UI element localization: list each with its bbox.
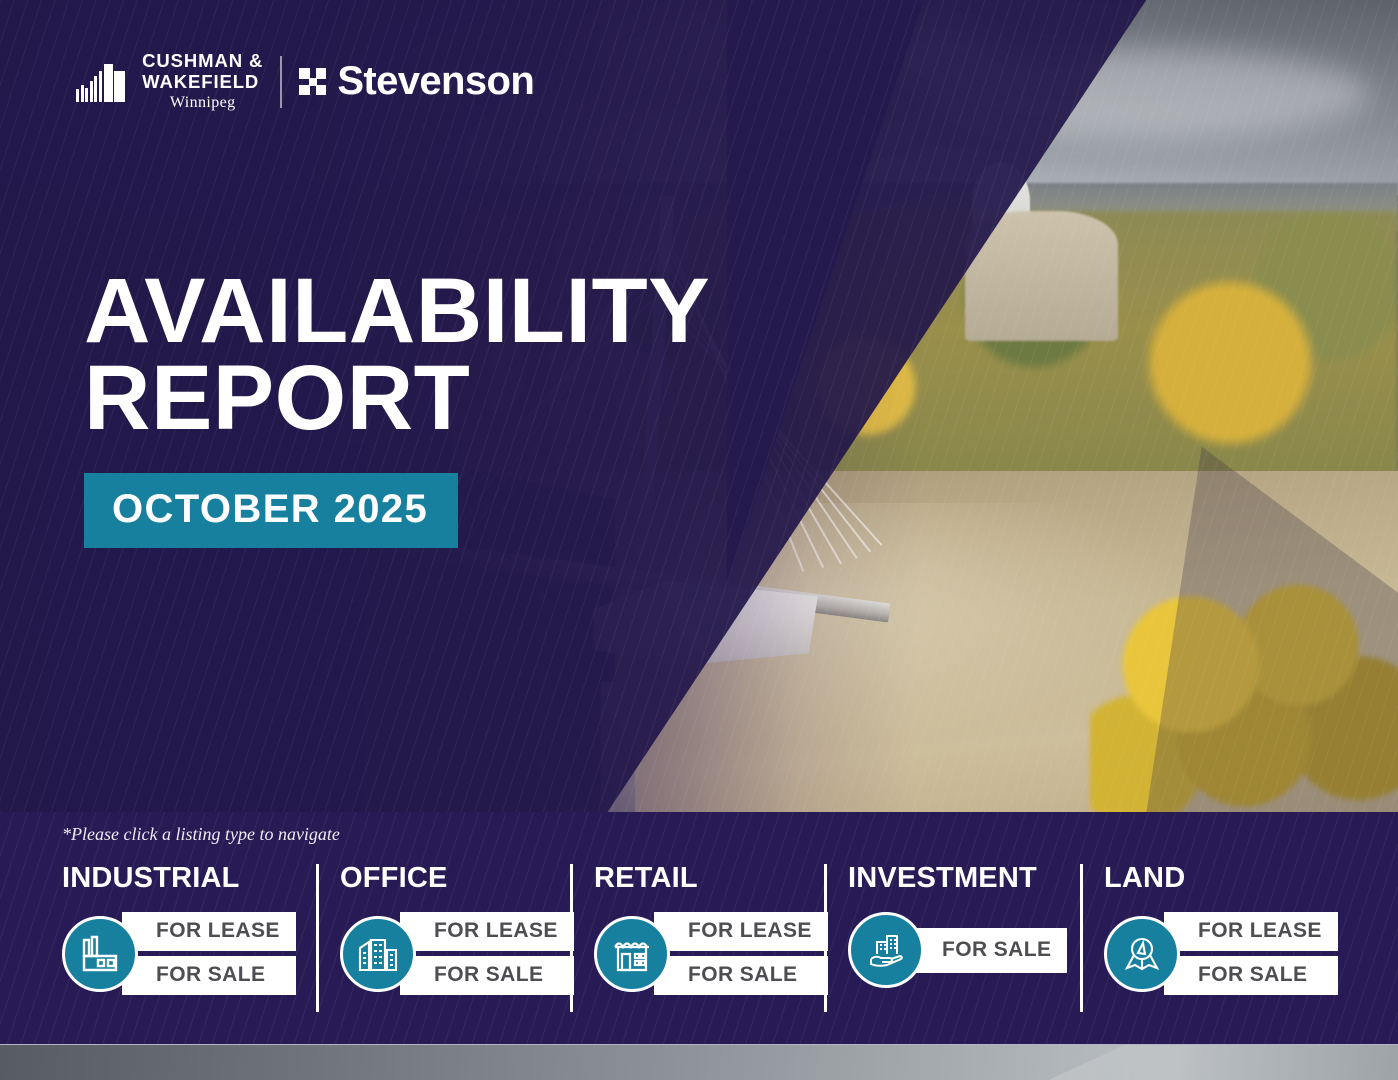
land-for-lease-button[interactable]: FOR LEASE: [1164, 912, 1338, 951]
listing-buttons-retail: FOR LEASE FOR SALE: [654, 912, 828, 995]
listing-title-investment: INVESTMENT: [848, 862, 1078, 895]
listing-buttons-land: FOR LEASE FOR SALE: [1164, 912, 1338, 995]
stevenson-wordmark: Stevenson: [337, 59, 534, 104]
listing-column-investment: INVESTMENT FOR SALE: [822, 862, 1078, 988]
industrial-for-lease-button[interactable]: FOR LEASE: [122, 912, 296, 951]
building-in-hand-icon[interactable]: [848, 912, 924, 988]
investment-for-sale-button[interactable]: FOR SALE: [908, 928, 1067, 973]
page-title-line-2: REPORT: [84, 347, 470, 449]
land-for-sale-button[interactable]: FOR SALE: [1164, 956, 1338, 995]
hero-headline: AVAILABILITY REPORT OCTOBER 2025: [84, 268, 710, 548]
map-pin-icon[interactable]: [1104, 916, 1180, 992]
listing-title-industrial: INDUSTRIAL: [62, 862, 314, 895]
listing-title-retail: RETAIL: [594, 862, 822, 895]
office-for-sale-button[interactable]: FOR SALE: [400, 956, 574, 995]
logo-divider: [280, 56, 282, 108]
office-for-lease-button[interactable]: FOR LEASE: [400, 912, 574, 951]
footer-accent-bar: [0, 1044, 1398, 1080]
nav-instruction-note: *Please click a listing type to navigate: [62, 824, 340, 845]
date-badge: OCTOBER 2025: [84, 473, 458, 548]
hero-banner: CUSHMAN & WAKEFIELD Winnipeg Stevenson A…: [0, 0, 1398, 812]
storefront-icon[interactable]: [594, 916, 670, 992]
listing-column-land: LAND FOR LEASE FOR SALE: [1078, 862, 1328, 995]
listing-buttons-industrial: FOR LEASE FOR SALE: [122, 912, 296, 995]
listing-buttons-office: FOR LEASE FOR SALE: [400, 912, 574, 995]
company-city: Winnipeg: [142, 95, 263, 111]
office-buildings-icon[interactable]: [340, 916, 416, 992]
retail-for-lease-button[interactable]: FOR LEASE: [654, 912, 828, 951]
stevenson-square-mark: [299, 68, 326, 95]
report-cover-page: CUSHMAN & WAKEFIELD Winnipeg Stevenson A…: [0, 0, 1398, 1080]
listing-column-office: OFFICE FOR LEASE FOR SALE: [314, 862, 568, 995]
listing-title-office: OFFICE: [340, 862, 568, 895]
logo-lockup[interactable]: CUSHMAN & WAKEFIELD Winnipeg Stevenson: [76, 52, 534, 111]
company-line-2: WAKEFIELD: [142, 73, 263, 92]
industrial-for-sale-button[interactable]: FOR SALE: [122, 956, 296, 995]
retail-for-sale-button[interactable]: FOR SALE: [654, 956, 828, 995]
factory-icon[interactable]: [62, 916, 138, 992]
listing-title-land: LAND: [1104, 862, 1328, 895]
listing-column-industrial: INDUSTRIAL FOR LEASE FOR SALE: [62, 862, 314, 995]
company-line-1: CUSHMAN &: [142, 52, 263, 71]
listing-type-columns: INDUSTRIAL FOR LEASE FOR SALE: [62, 862, 1328, 995]
listing-column-retail: RETAIL FOR LEASE FOR: [568, 862, 822, 995]
cushman-wakefield-building-mark: [76, 62, 125, 102]
listing-buttons-investment: FOR SALE: [908, 928, 1067, 973]
cushman-wakefield-wordmark: CUSHMAN & WAKEFIELD Winnipeg: [142, 52, 263, 111]
stevenson-logo: Stevenson: [299, 59, 534, 104]
page-title: AVAILABILITY REPORT: [84, 268, 710, 443]
